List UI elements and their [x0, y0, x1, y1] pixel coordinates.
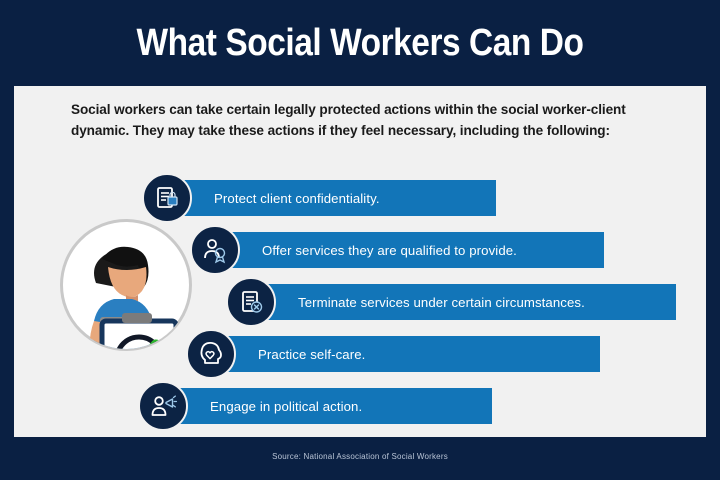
list-item-bar[interactable]: Protect client confidentiality. [166, 180, 496, 216]
list-item[interactable]: Protect client confidentiality. [166, 180, 496, 216]
list-item-bar[interactable]: Terminate services under certain circums… [250, 284, 676, 320]
infographic-poster: What Social Workers Can Do Social worker… [0, 0, 720, 480]
list-item-bar[interactable]: Engage in political action. [162, 388, 492, 424]
list-item-label: Protect client confidentiality. [166, 191, 380, 206]
document-x-icon [226, 277, 276, 327]
person-badge-icon [190, 225, 240, 275]
list-item[interactable]: Terminate services under certain circums… [250, 284, 676, 320]
list-item-label: Engage in political action. [162, 399, 362, 414]
head-heart-icon [186, 329, 236, 379]
list-item[interactable]: Offer services they are qualified to pro… [214, 232, 604, 268]
content-panel: Social workers can take certain legally … [14, 86, 706, 437]
page-title: What Social Workers Can Do [43, 22, 677, 65]
document-lock-icon [142, 173, 192, 223]
action-list: Protect client confidentiality. Offer s [14, 86, 706, 437]
list-item-label: Offer services they are qualified to pro… [214, 243, 517, 258]
list-item-bar[interactable]: Offer services they are qualified to pro… [214, 232, 604, 268]
list-item[interactable]: Practice self-care. [210, 336, 600, 372]
list-item-bar[interactable]: Practice self-care. [210, 336, 600, 372]
list-item-label: Terminate services under certain circums… [250, 295, 585, 310]
list-item[interactable]: Engage in political action. [162, 388, 492, 424]
person-megaphone-icon [138, 381, 188, 431]
source-caption: Source: National Association of Social W… [0, 452, 720, 461]
